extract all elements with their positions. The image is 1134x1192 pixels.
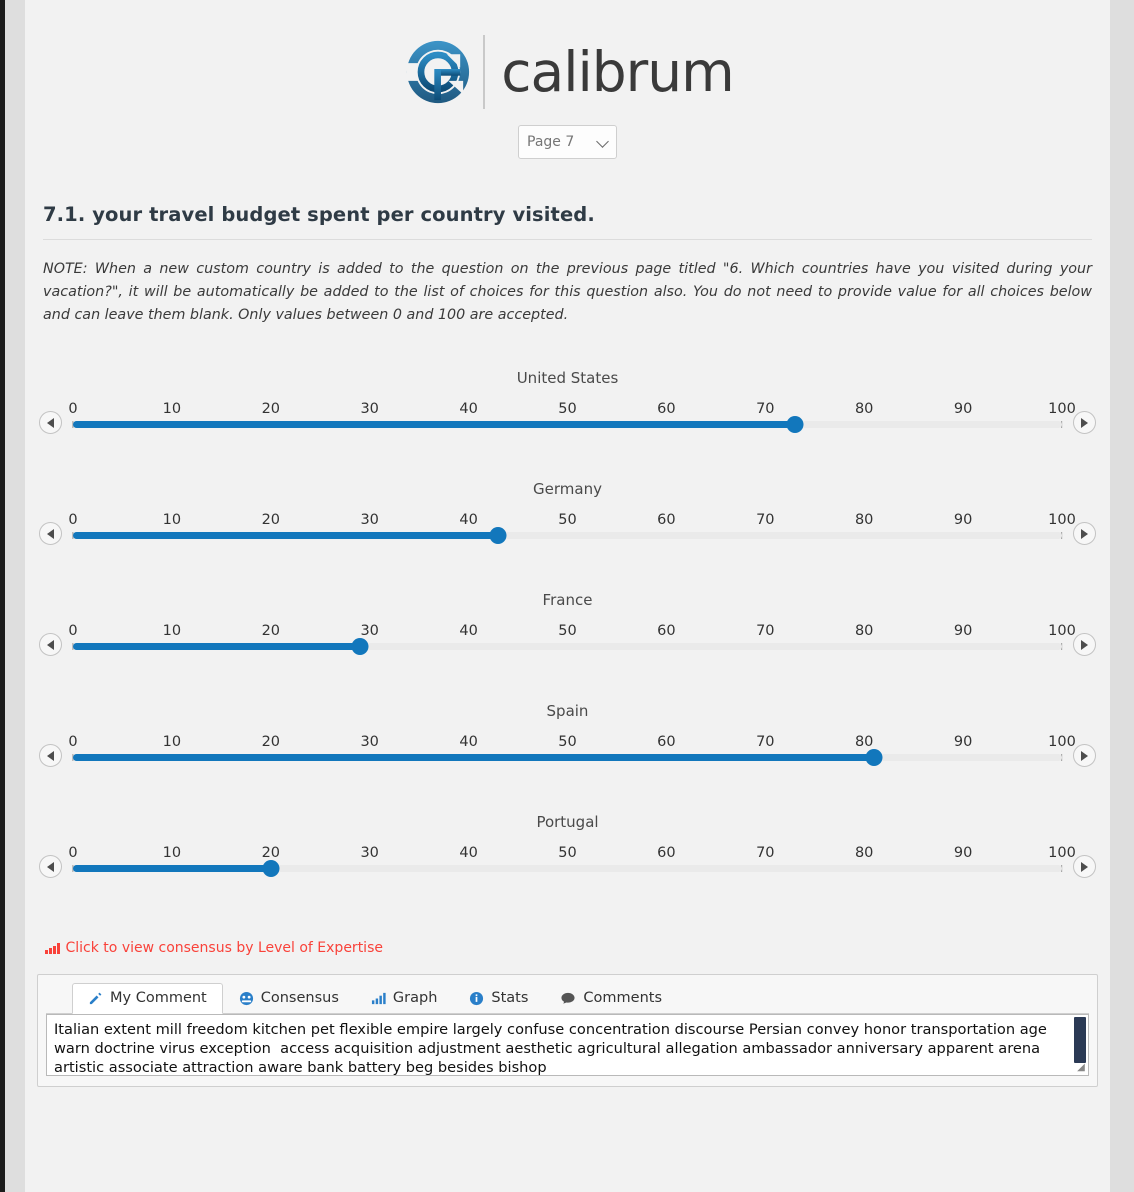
- slider-handle[interactable]: [490, 527, 507, 544]
- triangle-left-icon: [47, 418, 54, 428]
- triangle-right-icon: [1081, 529, 1088, 539]
- triangle-left-icon: [47, 862, 54, 872]
- triangle-left-icon: [47, 529, 54, 539]
- slider-label: United States: [25, 367, 1110, 387]
- gauge-icon: [239, 991, 254, 1006]
- slider-track-row[interactable]: [73, 413, 1062, 435]
- window-left-gutter: [5, 0, 25, 1192]
- slider-increment-button[interactable]: [1073, 411, 1096, 434]
- page-selector-value: Page 7: [527, 134, 574, 150]
- consensus-expertise-link[interactable]: Click to view consensus by Level of Expe…: [45, 940, 1110, 956]
- triangle-right-icon: [1081, 862, 1088, 872]
- slider-decrement-button[interactable]: [39, 411, 62, 434]
- tab-graph[interactable]: Graph: [355, 983, 453, 1014]
- tab-label: Graph: [393, 990, 437, 1006]
- triangle-left-icon: [47, 640, 54, 650]
- slider-label: Germany: [25, 478, 1110, 498]
- pencil-icon: [88, 991, 103, 1006]
- slider-label: France: [25, 589, 1110, 609]
- triangle-right-icon: [1081, 640, 1088, 650]
- triangle-left-icon: [47, 751, 54, 761]
- slider-fill: [73, 754, 874, 761]
- tab-label: My Comment: [110, 990, 207, 1006]
- tab-stats[interactable]: Stats: [453, 983, 544, 1014]
- tab-comments[interactable]: Comments: [544, 983, 678, 1014]
- slider-row: United States0102030405060708090100: [25, 367, 1110, 478]
- page-selector[interactable]: Page 7: [518, 125, 617, 159]
- slider-increment-button[interactable]: [1073, 744, 1096, 767]
- slider-label: Spain: [25, 700, 1110, 720]
- slider-increment-button[interactable]: [1073, 522, 1096, 545]
- tab-label: Comments: [583, 990, 662, 1006]
- comment-textarea[interactable]: Italian extent mill freedom kitchen pet …: [54, 1020, 1068, 1076]
- slider-track-row[interactable]: [73, 524, 1062, 546]
- slider-row: Germany0102030405060708090100: [25, 478, 1110, 589]
- tab-bar: My CommentConsensusGraphStatsComments: [46, 982, 1089, 1014]
- info-circle-icon: [469, 991, 484, 1006]
- tab-label: Stats: [491, 990, 528, 1006]
- slider-track-row[interactable]: [73, 746, 1062, 768]
- slider-decrement-button[interactable]: [39, 522, 62, 545]
- slider-handle[interactable]: [866, 749, 883, 766]
- slider-track-row[interactable]: [73, 635, 1062, 657]
- slider-increment-button[interactable]: [1073, 633, 1096, 656]
- slider-handle[interactable]: [786, 416, 803, 433]
- page-selector-row: Page 7: [25, 125, 1110, 159]
- slider-increment-button[interactable]: [1073, 855, 1096, 878]
- slider-track-row[interactable]: [73, 857, 1062, 879]
- calibrum-logo-icon: [401, 35, 475, 109]
- bar-chart-icon: [45, 943, 60, 954]
- window-right-gutter: [1110, 0, 1134, 1192]
- slider-handle[interactable]: [262, 860, 279, 877]
- slider-label: Portugal: [25, 811, 1110, 831]
- logo-divider: [483, 35, 485, 109]
- tab-consensus[interactable]: Consensus: [223, 983, 355, 1014]
- survey-page-card: calibrum Page 7 7.1. your travel budget …: [25, 0, 1110, 1192]
- comment-textarea-wrapper[interactable]: Italian extent mill freedom kitchen pet …: [46, 1014, 1089, 1076]
- slider-list: United States0102030405060708090100Germa…: [25, 367, 1110, 922]
- triangle-right-icon: [1081, 751, 1088, 761]
- slider-decrement-button[interactable]: [39, 744, 62, 767]
- comment-panel: My CommentConsensusGraphStatsComments It…: [37, 974, 1098, 1087]
- consensus-link-label: Click to view consensus by Level of Expe…: [66, 940, 383, 956]
- speech-bubble-icon: [560, 991, 576, 1006]
- question-note: NOTE: When a new custom country is added…: [43, 258, 1092, 327]
- slider-fill: [73, 532, 498, 539]
- textarea-scrollbar[interactable]: [1074, 1017, 1086, 1063]
- slider-fill: [73, 643, 360, 650]
- question-title: 7.1. your travel budget spent per countr…: [43, 203, 1092, 240]
- slider-fill: [73, 865, 271, 872]
- slider-handle[interactable]: [351, 638, 368, 655]
- slider-row: Spain0102030405060708090100: [25, 700, 1110, 811]
- slider-decrement-button[interactable]: [39, 855, 62, 878]
- tab-my-comment[interactable]: My Comment: [72, 983, 223, 1014]
- slider-row: Portugal0102030405060708090100: [25, 811, 1110, 922]
- bar-chart-icon: [371, 991, 386, 1006]
- slider-decrement-button[interactable]: [39, 633, 62, 656]
- brand-name: calibrum: [501, 40, 733, 104]
- slider-fill: [73, 421, 795, 428]
- triangle-right-icon: [1081, 418, 1088, 428]
- brand-header: calibrum: [25, 0, 1110, 110]
- textarea-resize-grip[interactable]: ◢: [1075, 1062, 1087, 1074]
- chevron-down-icon: [596, 135, 609, 148]
- tab-label: Consensus: [261, 990, 339, 1006]
- slider-row: France0102030405060708090100: [25, 589, 1110, 700]
